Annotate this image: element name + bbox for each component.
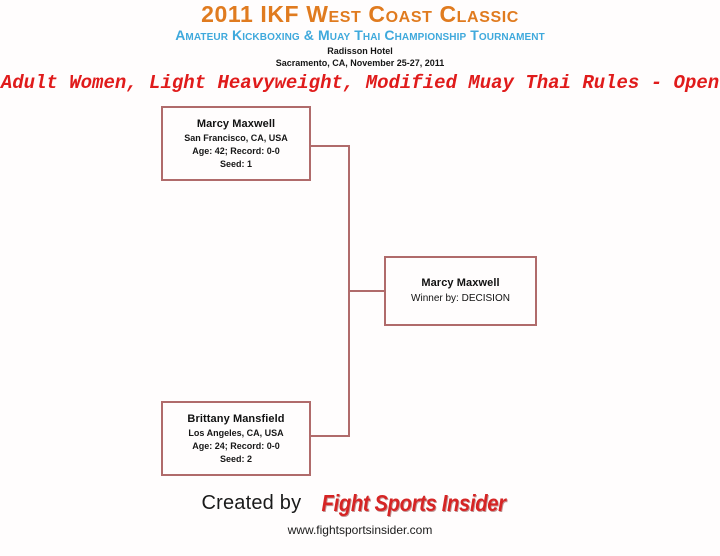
created-by-label: Created by: [201, 492, 301, 514]
winner-name: Marcy Maxwell: [421, 276, 499, 291]
competitor-name: Marcy Maxwell: [197, 117, 275, 132]
competitor-hometown: Los Angeles, CA, USA: [188, 427, 283, 440]
page-footer: Created byFight Sports Insider www.fight…: [0, 490, 720, 539]
brand-logo: Fight Sports Insider: [322, 490, 506, 517]
competitor-hometown: San Francisco, CA, USA: [184, 132, 288, 145]
bracket-connector-bottom: [309, 435, 350, 437]
bracket-connector-winner: [348, 290, 386, 292]
website-url[interactable]: www.fightsportsinsider.com: [0, 521, 720, 539]
credit-line: Created byFight Sports Insider: [201, 490, 518, 517]
competitor-box-2[interactable]: Brittany Mansfield Los Angeles, CA, USA …: [161, 401, 311, 476]
competitor-seed: Seed: 1: [220, 158, 252, 171]
competitor-box-1[interactable]: Marcy Maxwell San Francisco, CA, USA Age…: [161, 106, 311, 181]
competitor-seed: Seed: 2: [220, 453, 252, 466]
winner-box[interactable]: Marcy Maxwell Winner by: DECISION: [384, 256, 537, 326]
competitor-record: Age: 24; Record: 0-0: [192, 440, 280, 453]
competitor-name: Brittany Mansfield: [187, 412, 284, 427]
tournament-bracket: Marcy Maxwell San Francisco, CA, USA Age…: [0, 0, 720, 556]
winner-method: Winner by: DECISION: [411, 292, 510, 306]
competitor-record: Age: 42; Record: 0-0: [192, 145, 280, 158]
bracket-connector-top: [309, 145, 350, 147]
